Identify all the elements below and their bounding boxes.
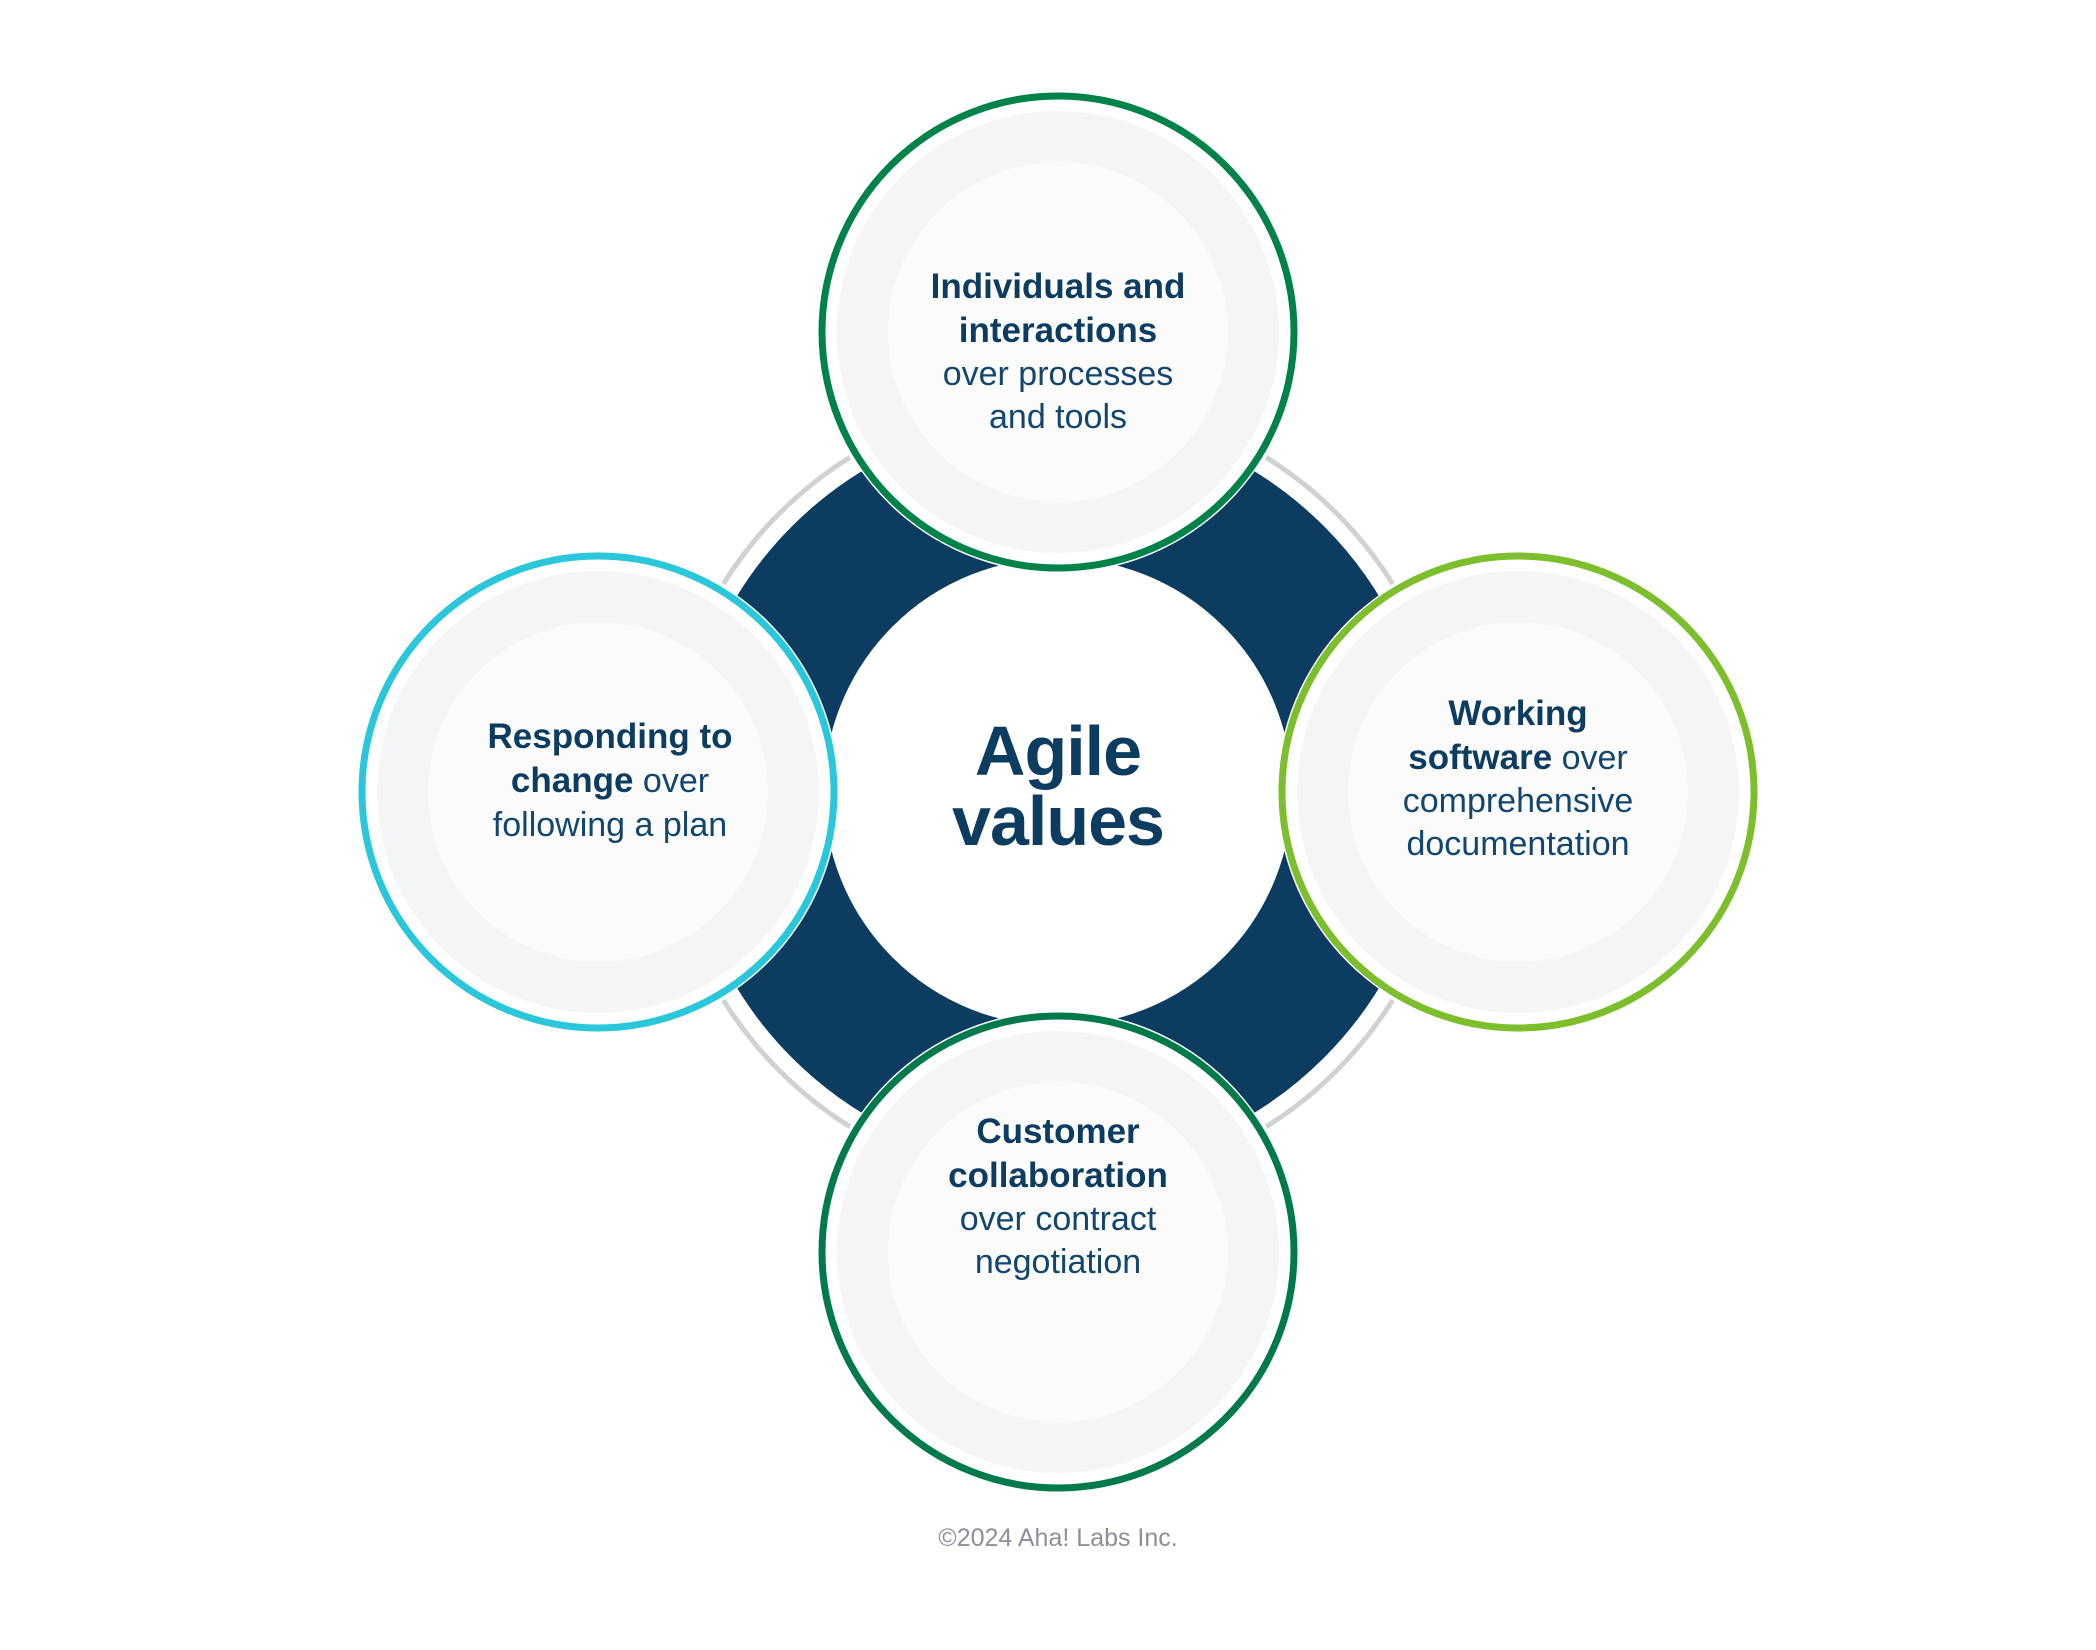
value-bold-line-1: Customer: [976, 1112, 1140, 1151]
copyright-credit: ©2024 Aha! Labs Inc.: [938, 1524, 1177, 1552]
value-circle-individuals-and-interactions[interactable]: Individuals and interactions over proces…: [820, 94, 1296, 570]
center-label: Agile values: [952, 712, 1164, 860]
value-bold-line-2-row: software over: [1408, 738, 1628, 777]
value-circle-working-software[interactable]: Working software over comprehensive docu…: [1280, 554, 1756, 1030]
value-bold-line-2: interactions: [959, 311, 1157, 350]
value-regular-line-1: over processes: [943, 355, 1174, 393]
value-regular-line-1: comprehensive: [1403, 782, 1634, 820]
value-regular-line-2: documentation: [1406, 825, 1629, 863]
center-title-line-1: Agile: [975, 712, 1141, 790]
value-inline-suffix: over: [633, 762, 709, 800]
value-inline-suffix: over: [1552, 739, 1628, 777]
value-regular-line-2: and tools: [989, 398, 1127, 436]
value-bold-line-2: collaboration: [948, 1156, 1168, 1195]
value-bold-line-2: change: [511, 761, 634, 800]
value-circle-responding-to-change[interactable]: Responding to change over following a pl…: [360, 554, 836, 1030]
value-bold-line-2: software: [1408, 738, 1552, 777]
diagram-canvas: Individuals and interactions over proces…: [0, 0, 2096, 1650]
value-bold-line-1: Individuals and: [931, 267, 1186, 306]
agile-values-diagram: Individuals and interactions over proces…: [0, 0, 2096, 1650]
value-bold-line-1: Working: [1448, 694, 1587, 733]
value-bold-line-2-row: change over: [511, 761, 709, 800]
value-regular-line-1: over contract: [960, 1200, 1157, 1238]
value-bold-line-1: Responding to: [488, 717, 733, 756]
value-regular-line-2: negotiation: [975, 1243, 1141, 1281]
value-circle-customer-collaboration[interactable]: Customer collaboration over contract neg…: [820, 1014, 1296, 1490]
value-regular-line-1: following a plan: [493, 806, 727, 844]
center-title-line-2: values: [952, 782, 1164, 860]
